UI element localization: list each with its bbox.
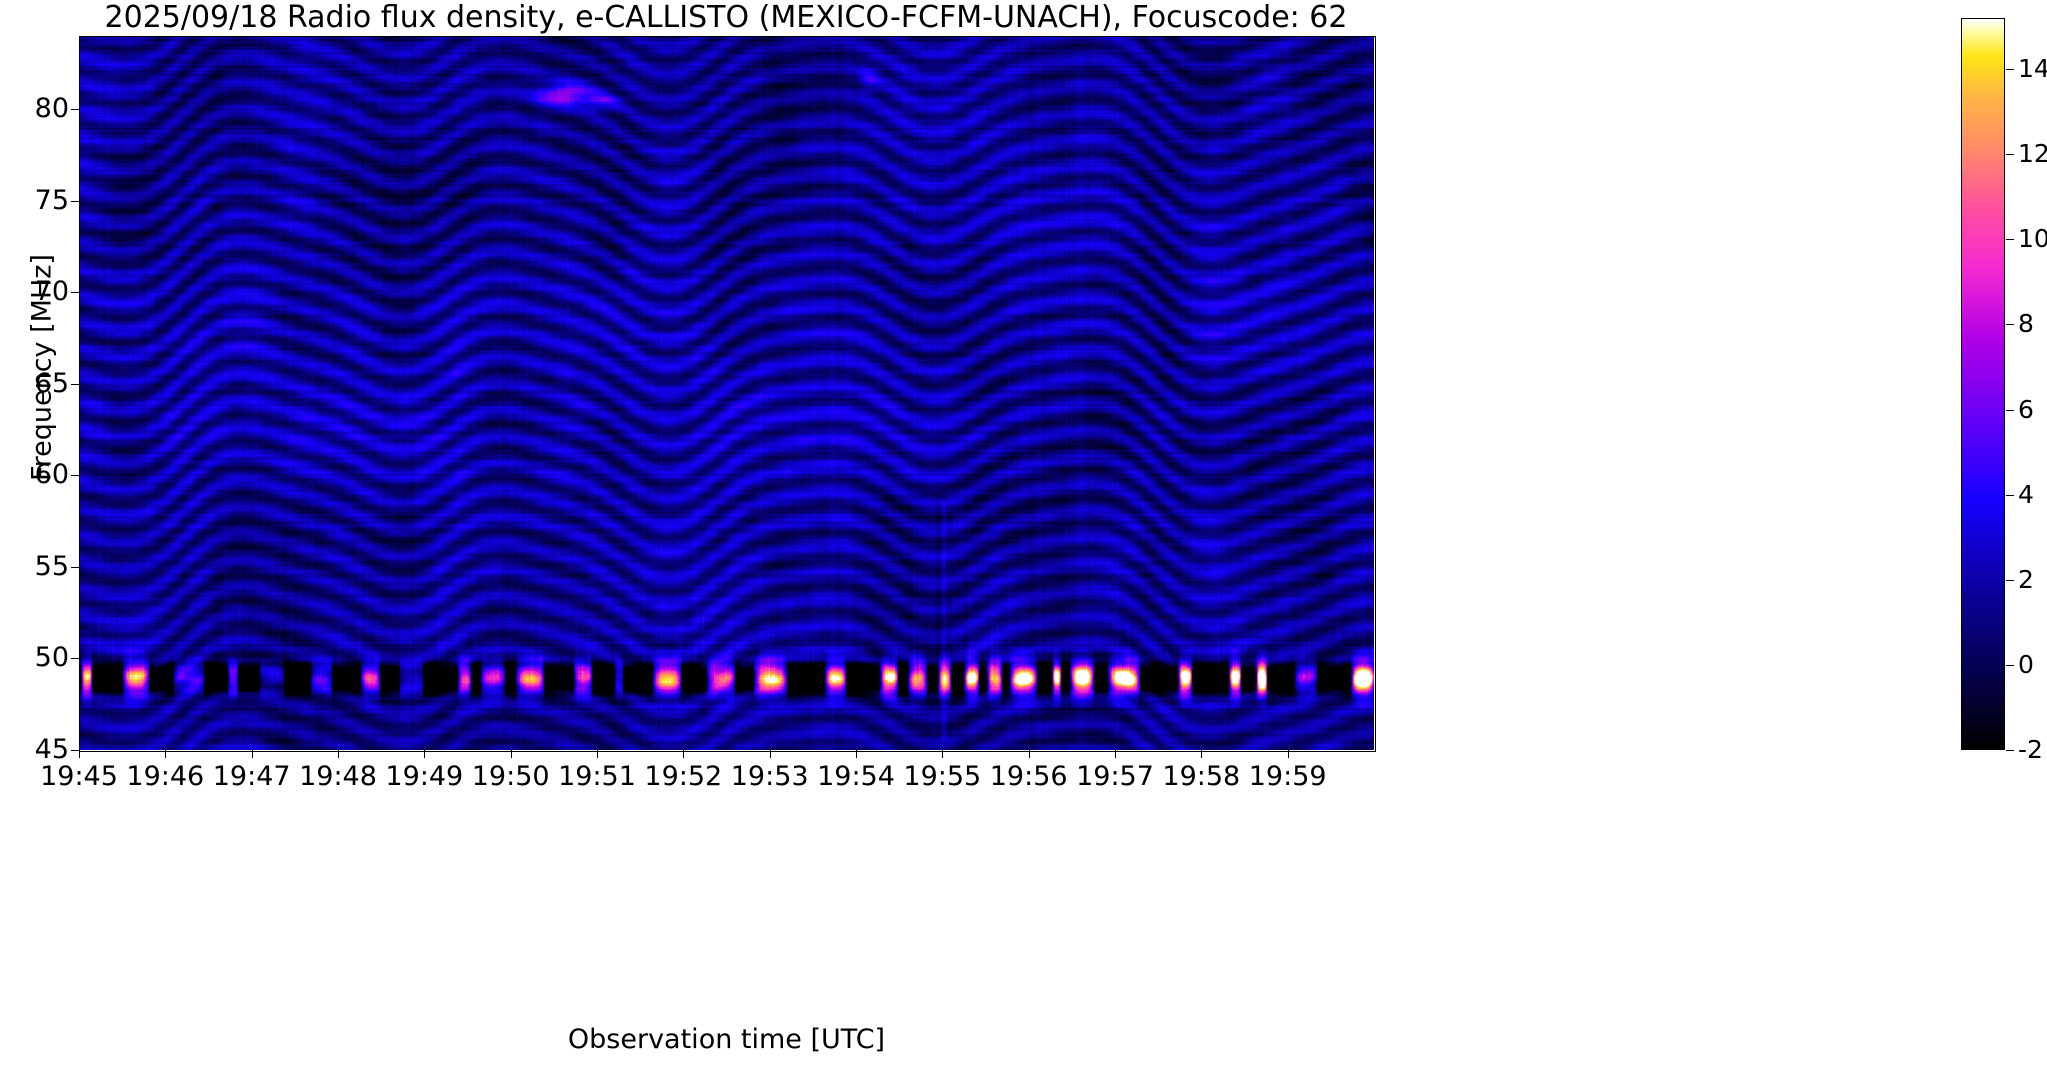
colorbar-tick-label-0: 0	[2018, 652, 2034, 677]
y-tick-mark	[71, 475, 79, 476]
x-tick-mark	[1029, 750, 1030, 758]
y-tick-label-55: 55	[35, 553, 69, 580]
colorbar-tick-label-neg2: -2	[2018, 737, 2043, 762]
colorbar-tick-mark	[2006, 324, 2014, 325]
colorbar-tick-mark	[2006, 69, 2014, 70]
colorbar-tick-mark	[2006, 154, 2014, 155]
colorbar-tick-label-4: 4	[2018, 482, 2034, 507]
colorbar-tick-mark	[2006, 410, 2014, 411]
x-tick-mark	[770, 750, 771, 758]
y-tick-mark	[71, 201, 79, 202]
figure-canvas: 2025/09/18 Radio flux density, e-CALLIST…	[0, 0, 2047, 1067]
spectrogram-plot[interactable]	[79, 36, 1374, 750]
x-tick-mark	[1288, 750, 1289, 758]
colorbar-tick-mark	[2006, 495, 2014, 496]
colorbar-tick-mark	[2006, 665, 2014, 666]
colorbar-tick-label-12: 12	[2018, 141, 2047, 166]
colorbar-tick-mark	[2006, 580, 2014, 581]
y-tick-mark	[71, 750, 79, 751]
y-tick-mark	[71, 109, 79, 110]
y-tick-mark	[71, 384, 79, 385]
colorbar-tick-label-8: 8	[2018, 311, 2034, 336]
colorbar-tick-label-6: 6	[2018, 397, 2034, 422]
y-tick-mark	[71, 292, 79, 293]
y-tick-label-45: 45	[35, 736, 69, 763]
colorbar-gradient[interactable]	[1961, 18, 2005, 750]
colorbar-tick-mark	[2006, 239, 2014, 240]
spectrogram-image[interactable]	[79, 36, 1374, 750]
colorbar-tick-label-14: 14	[2018, 56, 2047, 81]
colorbar-tick-label-10: 10	[2018, 226, 2047, 251]
x-tick-mark	[79, 750, 80, 758]
x-axis-label: Observation time [UTC]	[79, 1024, 1374, 1055]
page-title: 2025/09/18 Radio flux density, e-CALLIST…	[78, 2, 1374, 34]
y-tick-mark	[71, 658, 79, 659]
x-tick-mark	[338, 750, 339, 758]
x-tick-mark	[597, 750, 598, 758]
y-tick-label-50: 50	[35, 644, 69, 671]
y-tick-mark	[71, 567, 79, 568]
x-tick-mark	[252, 750, 253, 758]
x-tick-mark	[1201, 750, 1202, 758]
x-tick-mark	[856, 750, 857, 758]
colorbar-tick-label-2: 2	[2018, 567, 2034, 592]
x-tick-mark	[942, 750, 943, 758]
x-tick-label-19-59: 19:59	[1228, 762, 1348, 792]
y-tick-label-80: 80	[35, 95, 69, 122]
x-tick-mark	[424, 750, 425, 758]
x-tick-mark	[165, 750, 166, 758]
colorbar-tick-mark	[2006, 750, 2014, 751]
colorbar[interactable]	[1961, 18, 2005, 750]
x-tick-mark	[511, 750, 512, 758]
y-axis-label: Frequency [MHz]	[27, 198, 58, 538]
x-tick-mark	[1115, 750, 1116, 758]
x-tick-mark	[683, 750, 684, 758]
